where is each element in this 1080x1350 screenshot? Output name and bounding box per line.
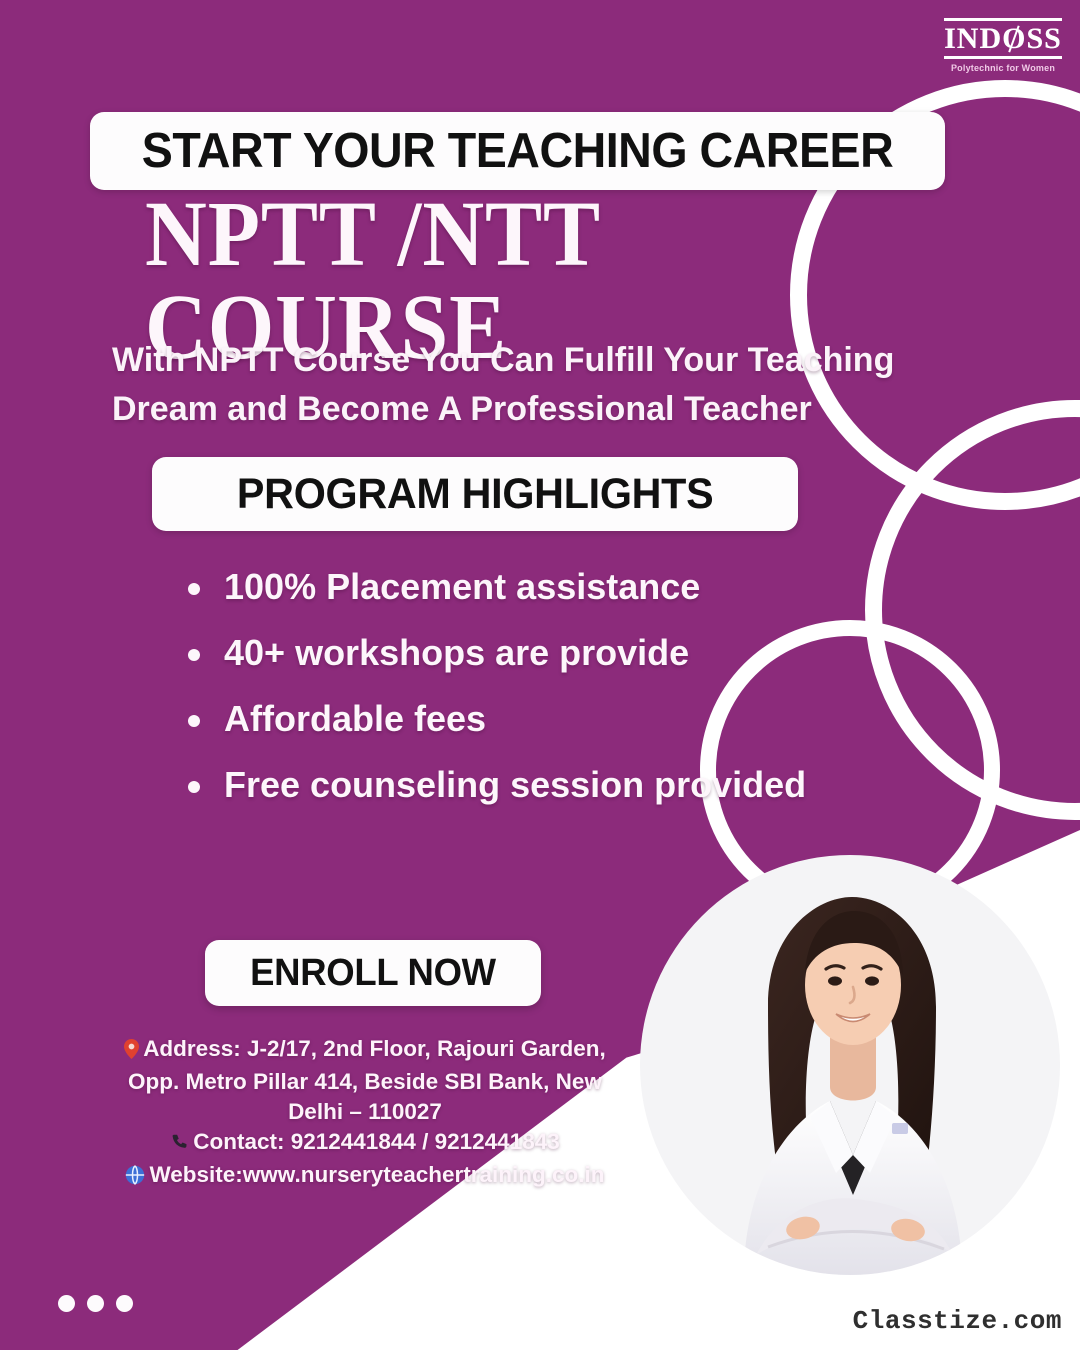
address-text-1: Address: J-2/17, 2nd Floor, Rajouri Gard…: [143, 1036, 606, 1061]
dot-2: [87, 1295, 104, 1312]
list-item: Affordable fees: [180, 697, 940, 741]
logo-wordmark: INDOSS: [944, 18, 1062, 59]
list-item: 100% Placement assistance: [180, 565, 940, 609]
highlights-list: 100% Placement assistance 40+ workshops …: [180, 565, 940, 829]
dot-1: [58, 1295, 75, 1312]
phone-text: Contact: 9212441844 / 9212441843: [193, 1129, 560, 1154]
website-line[interactable]: Website:www.nurseryteachertraining.co.in: [100, 1160, 630, 1193]
logo-text-post: SS: [1026, 22, 1061, 55]
enroll-now-button[interactable]: ENROLL NOW: [205, 940, 541, 1006]
address-line-1: Address: J-2/17, 2nd Floor, Rajouri Gard…: [100, 1034, 630, 1067]
site-watermark: Classtize.com: [853, 1306, 1062, 1336]
list-item: Free counseling session provided: [180, 763, 940, 807]
phone-glyph: [170, 1133, 189, 1152]
brand-logo: INDOSS Polytechnic for Women: [944, 18, 1062, 73]
eyebrow-banner: START YOUR TEACHING CAREER: [90, 112, 945, 190]
location-pin-glyph: [124, 1039, 139, 1059]
eyebrow-text: START YOUR TEACHING CAREER: [142, 123, 893, 179]
address-line-2: Opp. Metro Pillar 414, Beside SBI Bank, …: [100, 1067, 630, 1097]
program-highlights-banner: PROGRAM HIGHLIGHTS: [152, 457, 798, 531]
dot-3: [116, 1295, 133, 1312]
phone-icon: [170, 1130, 189, 1160]
globe-icon: [125, 1163, 145, 1193]
enroll-now-label: ENROLL NOW: [250, 952, 496, 995]
contact-block: Address: J-2/17, 2nd Floor, Rajouri Gard…: [100, 1034, 630, 1193]
website-text: Website:www.nurseryteachertraining.co.in: [149, 1162, 604, 1187]
decorative-dots: [58, 1295, 133, 1312]
phone-line[interactable]: Contact: 9212441844 / 9212441843: [100, 1127, 630, 1160]
program-highlights-heading: PROGRAM HIGHLIGHTS: [237, 470, 713, 519]
logo-tagline: Polytechnic for Women: [944, 63, 1062, 73]
subtitle-text: With NPTT Course You Can Fulfill Your Te…: [112, 336, 977, 435]
globe-glyph: [125, 1165, 145, 1185]
instructor-portrait: [640, 855, 1060, 1275]
logo-text-pre: IND: [944, 22, 1002, 55]
location-pin-icon: [124, 1037, 139, 1067]
poster-canvas: INDOSS Polytechnic for Women START YOUR …: [0, 0, 1080, 1350]
portrait-illustration: [640, 855, 1060, 1275]
list-item: 40+ workshops are provide: [180, 631, 940, 675]
logo-o-slash: O: [1002, 22, 1026, 55]
address-line-3: Delhi – 110027: [100, 1097, 630, 1127]
